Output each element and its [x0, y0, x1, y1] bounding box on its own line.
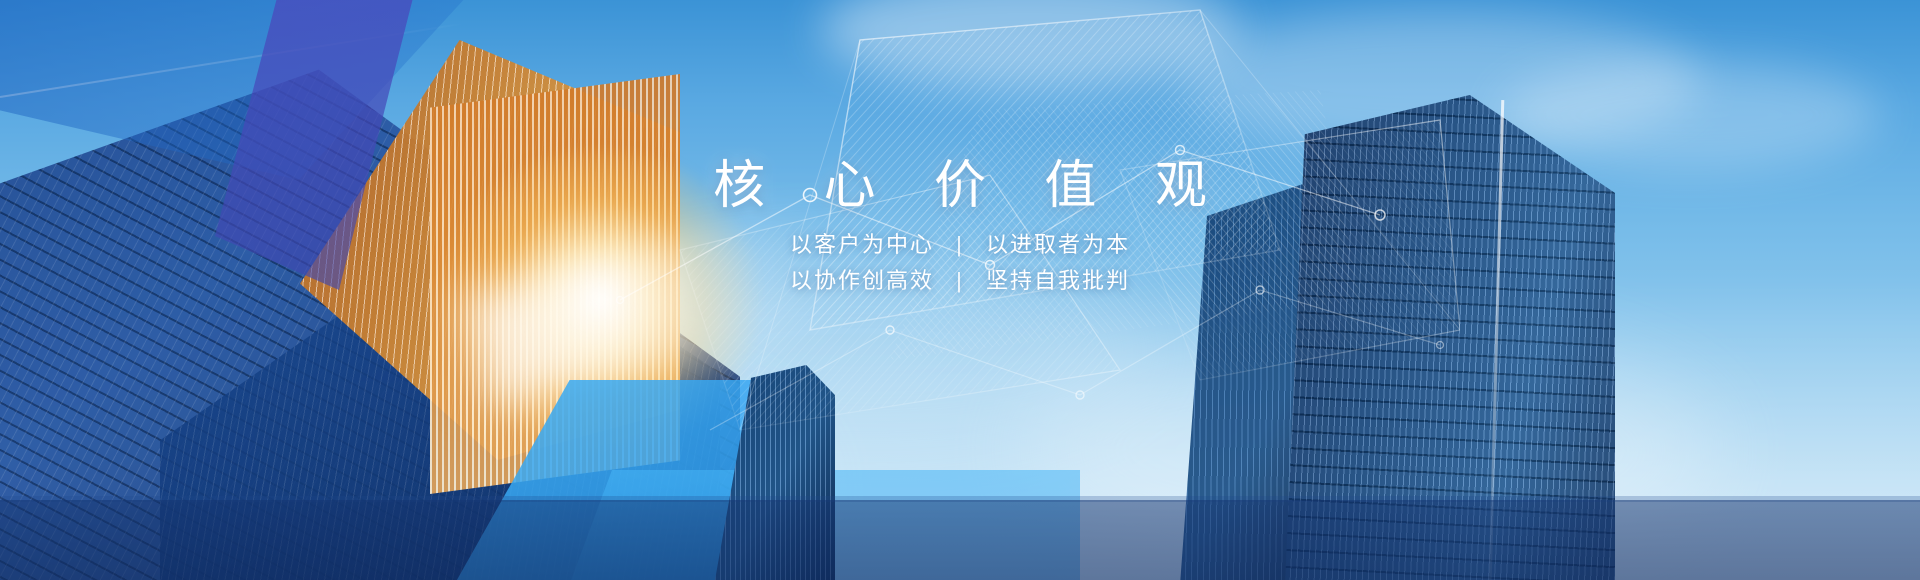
banner-copy: 核 心 价 值 观 以客户为中心 | 以进取者为本 以协作创高效 | 坚持自我批… — [0, 0, 1920, 580]
subtitle-2-separator: | — [942, 270, 978, 292]
core-values-banner: 核 心 价 值 观 以客户为中心 | 以进取者为本 以协作创高效 | 坚持自我批… — [0, 0, 1920, 580]
banner-subtitle-line-2: 以协作创高效 | 坚持自我批判 — [0, 270, 1920, 292]
banner-title: 核 心 价 值 观 — [0, 160, 1920, 212]
subtitle-1-left: 以客户为中心 — [790, 232, 934, 257]
subtitle-2-right: 坚持自我批判 — [986, 268, 1130, 293]
banner-subtitle-line-1: 以客户为中心 | 以进取者为本 — [0, 234, 1920, 256]
subtitle-1-separator: | — [942, 234, 978, 256]
subtitle-2-left: 以协作创高效 — [790, 268, 934, 293]
subtitle-1-right: 以进取者为本 — [986, 232, 1130, 257]
